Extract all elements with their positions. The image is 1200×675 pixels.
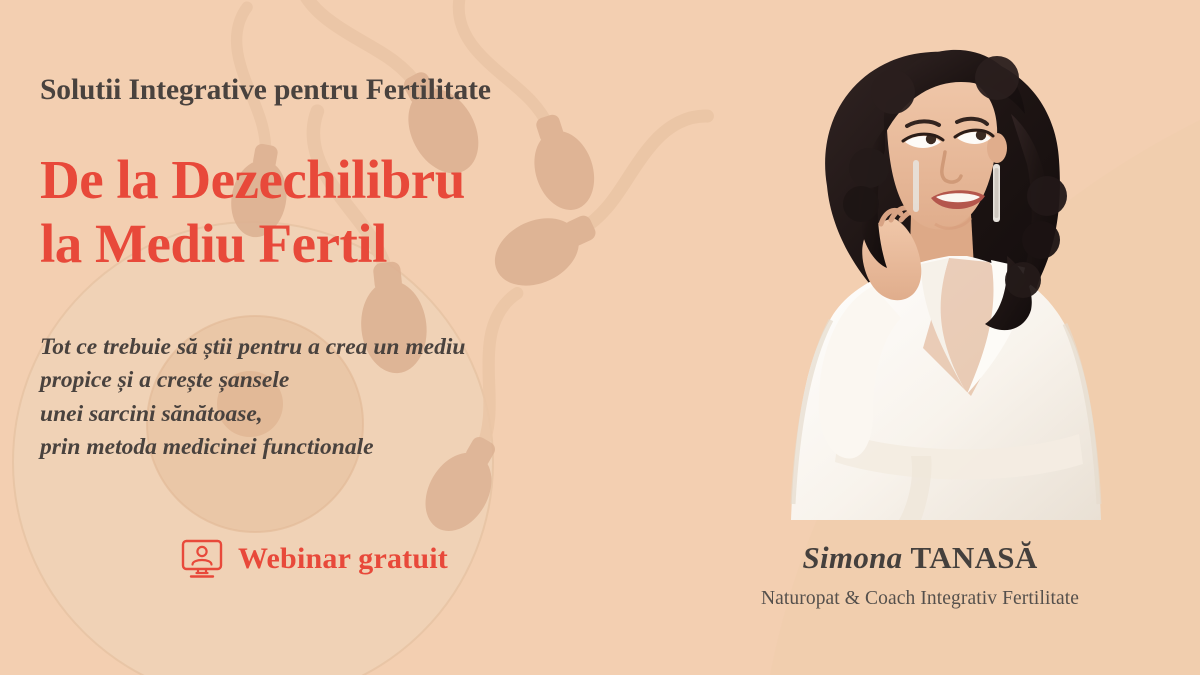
- kicker-headline: Solutii Integrative pentru Fertilitate: [40, 74, 491, 107]
- hair-curl: [1027, 176, 1067, 216]
- headline-line-2: la Mediu Fertil: [40, 212, 465, 276]
- description-line-2: propice și a crește șansele: [40, 364, 465, 397]
- text-column: Solutii Integrative pentru Fertilitate D…: [0, 0, 700, 675]
- presenter-block: Simona TANASĂ Naturopat & Coach Integrat…: [700, 540, 1140, 610]
- presenter-photo: [735, 18, 1155, 528]
- hair-curl: [975, 56, 1019, 100]
- hair-curl: [849, 148, 889, 188]
- description-text: Tot ce trebuie să știi pentru a crea un …: [40, 331, 465, 464]
- webinar-monitor-person-icon: [180, 537, 224, 581]
- earring: [913, 160, 919, 212]
- webinar-badge-label: Webinar gratuit: [238, 542, 448, 576]
- headline-line-1: De la Dezechilibru: [40, 148, 465, 212]
- description-line-4: prin metoda medicinei functionale: [40, 431, 465, 464]
- hair-curl: [843, 186, 879, 222]
- page-title: De la Dezechilibru la Mediu Fertil: [40, 148, 465, 276]
- presenter-photo-illustration: [735, 18, 1155, 528]
- presenter-name: Simona TANASĂ: [700, 540, 1140, 576]
- hair-curl: [1022, 221, 1060, 259]
- webinar-badge[interactable]: Webinar gratuit: [180, 537, 448, 581]
- hair-curl: [871, 70, 915, 114]
- description-line-3: unei sarcini sănătoase,: [40, 398, 465, 431]
- presenter-role: Naturopat & Coach Integrativ Fertilitate: [700, 588, 1140, 610]
- description-line-1: Tot ce trebuie să știi pentru a crea un …: [40, 331, 465, 364]
- poster-canvas: Solutii Integrative pentru Fertilitate D…: [0, 0, 1200, 675]
- earring: [993, 164, 1000, 222]
- presenter-last-name: TANASĂ: [911, 540, 1038, 575]
- hair-curl: [1005, 262, 1041, 298]
- presenter-first-name: Simona: [802, 540, 902, 575]
